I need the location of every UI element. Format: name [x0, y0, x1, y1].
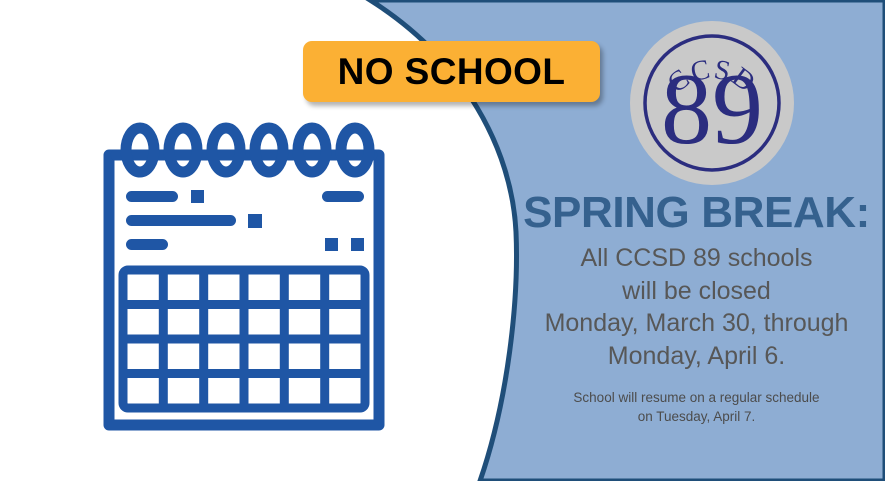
message-footnote: School will resume on a regular schedule… [508, 389, 885, 426]
message-body-line-4: Monday, April 6. [508, 340, 885, 373]
spring-break-heading: SPRING BREAK: [508, 190, 885, 236]
message-footnote-line-1: School will resume on a regular schedule [508, 389, 885, 408]
message-body-line-1: All CCSD 89 schools [508, 242, 885, 275]
no-school-spring-break-poster: NO SCHOOL CCSD 89 SPRING BREAK: All CCSD… [0, 0, 885, 481]
message-block: SPRING BREAK: All CCSD 89 schools will b… [508, 190, 885, 426]
no-school-badge: NO SCHOOL [303, 41, 600, 102]
message-body: All CCSD 89 schools will be closed Monda… [508, 242, 885, 372]
message-body-line-2: will be closed [508, 275, 885, 308]
no-school-badge-label: NO SCHOOL [338, 53, 566, 90]
message-footnote-line-2: on Tuesday, April 7. [508, 408, 885, 427]
calendar-icon [98, 120, 390, 436]
ccsd-89-logo: CCSD 89 [627, 18, 797, 188]
calendar-header-details [126, 190, 364, 251]
message-body-line-3: Monday, March 30, through [508, 307, 885, 340]
logo-number: 89 [661, 53, 763, 166]
calendar-day-grid [123, 270, 365, 408]
